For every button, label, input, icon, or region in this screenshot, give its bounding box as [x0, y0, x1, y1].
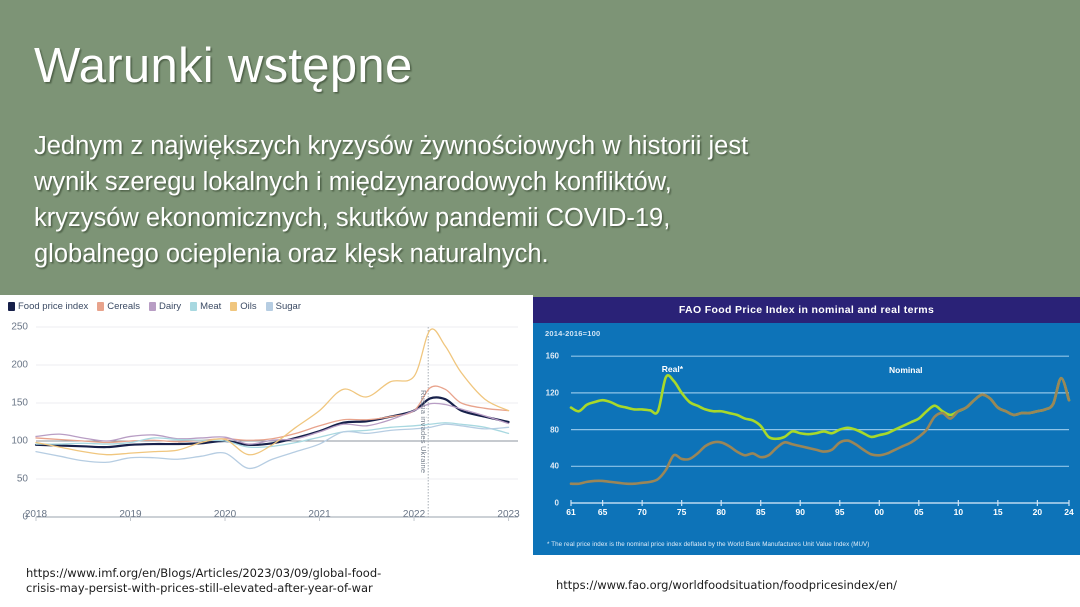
legend-item-oils: Oils: [230, 301, 256, 312]
legend-swatch-icon: [8, 302, 15, 311]
legend-swatch-icon: [97, 302, 104, 311]
fao-x-tick-label: 95: [828, 507, 852, 517]
body-line-2: wynik szeregu lokalnych i międzynarodowy…: [34, 164, 994, 200]
fao-y-tick-label: 0: [539, 499, 559, 508]
fao-x-tick-label: 85: [749, 507, 773, 517]
imf-source-caption: https://www.imf.org/en/Blogs/Articles/20…: [26, 566, 406, 596]
fao-x-tick-label: 24: [1057, 507, 1080, 517]
legend-swatch-icon: [230, 302, 237, 311]
legend-item-meat: Meat: [190, 301, 221, 312]
fao-x-tick-label: 61: [559, 507, 583, 517]
fao-x-tick-label: 20: [1025, 507, 1049, 517]
legend-label: Food price index: [18, 301, 88, 312]
imf-chart-legend: Food price indexCerealsDairyMeatOilsSuga…: [8, 299, 301, 313]
fao-x-tick-label: 70: [630, 507, 654, 517]
imf-y-tick-label: 200: [2, 360, 28, 371]
fao-chart-title: FAO Food Price Index in nominal and real…: [679, 304, 934, 316]
fao-x-tick-label: 90: [788, 507, 812, 517]
fao-x-tick-label: 05: [907, 507, 931, 517]
fao-y-tick-label: 120: [539, 388, 559, 397]
fao-y-tick-label: 80: [539, 425, 559, 434]
body-line-1: Jednym z największych kryzysów żywnościo…: [34, 128, 994, 164]
imf-x-tick-label: 2019: [110, 509, 152, 520]
fao-x-tick-label: 15: [986, 507, 1010, 517]
legend-swatch-icon: [190, 302, 197, 311]
fao-x-tick-label: 80: [709, 507, 733, 517]
imf-y-tick-label: 250: [2, 322, 28, 333]
legend-label: Cereals: [107, 301, 140, 312]
fao-y-tick-label: 40: [539, 462, 559, 471]
imf-x-tick-label: 2018: [15, 509, 57, 520]
body-line-3: kryzysów ekonomicznych, skutków pandemii…: [34, 200, 994, 236]
fao-line-chart: [533, 323, 1080, 528]
fao-x-tick-label: 75: [670, 507, 694, 517]
legend-swatch-icon: [149, 302, 156, 311]
legend-label: Sugar: [276, 301, 301, 312]
legend-label: Dairy: [159, 301, 181, 312]
imf-x-tick-label: 2022: [393, 509, 435, 520]
imf-y-tick-label: 100: [2, 436, 28, 447]
fao-chart-titlebar: FAO Food Price Index in nominal and real…: [533, 297, 1080, 323]
fao-series-label-nominal: Nominal: [889, 365, 923, 375]
fao-x-tick-label: 65: [591, 507, 615, 517]
imf-x-tick-label: 2021: [299, 509, 341, 520]
legend-swatch-icon: [266, 302, 273, 311]
fao-x-tick-label: 00: [867, 507, 891, 517]
fao-y-tick-label: 160: [539, 352, 559, 361]
legend-item-cereals: Cereals: [97, 301, 140, 312]
fao-series-label-real: Real*: [662, 364, 683, 374]
imf-y-tick-label: 150: [2, 398, 28, 409]
page-title: Warunki wstępne: [34, 38, 413, 94]
imf-y-tick-label: 50: [2, 474, 28, 485]
fao-footnote: * The real price index is the nominal pr…: [547, 541, 869, 548]
legend-item-dairy: Dairy: [149, 301, 181, 312]
legend-label: Oils: [240, 301, 256, 312]
imf-annotation-russia-invades-ukraine: Russia invades Ukraine: [419, 390, 428, 473]
imf-x-tick-label: 2020: [204, 509, 246, 520]
fao-x-tick-label: 10: [946, 507, 970, 517]
fao-source-caption: https://www.fao.org/worldfoodsituation/f…: [556, 578, 897, 592]
imf-x-tick-label: 2023: [488, 509, 530, 520]
body-line-4: globalnego ocieplenia oraz klęsk natural…: [34, 236, 994, 272]
slide-body-text: Jednym z największych kryzysów żywnościo…: [34, 128, 994, 272]
legend-label: Meat: [200, 301, 221, 312]
imf-line-chart: [0, 317, 528, 560]
legend-item-food-price-index: Food price index: [8, 301, 88, 312]
imf-chart-panel: Food price indexCerealsDairyMeatOilsSuga…: [0, 295, 528, 560]
legend-item-sugar: Sugar: [266, 301, 301, 312]
fao-chart-panel: FAO Food Price Index in nominal and real…: [533, 297, 1080, 555]
